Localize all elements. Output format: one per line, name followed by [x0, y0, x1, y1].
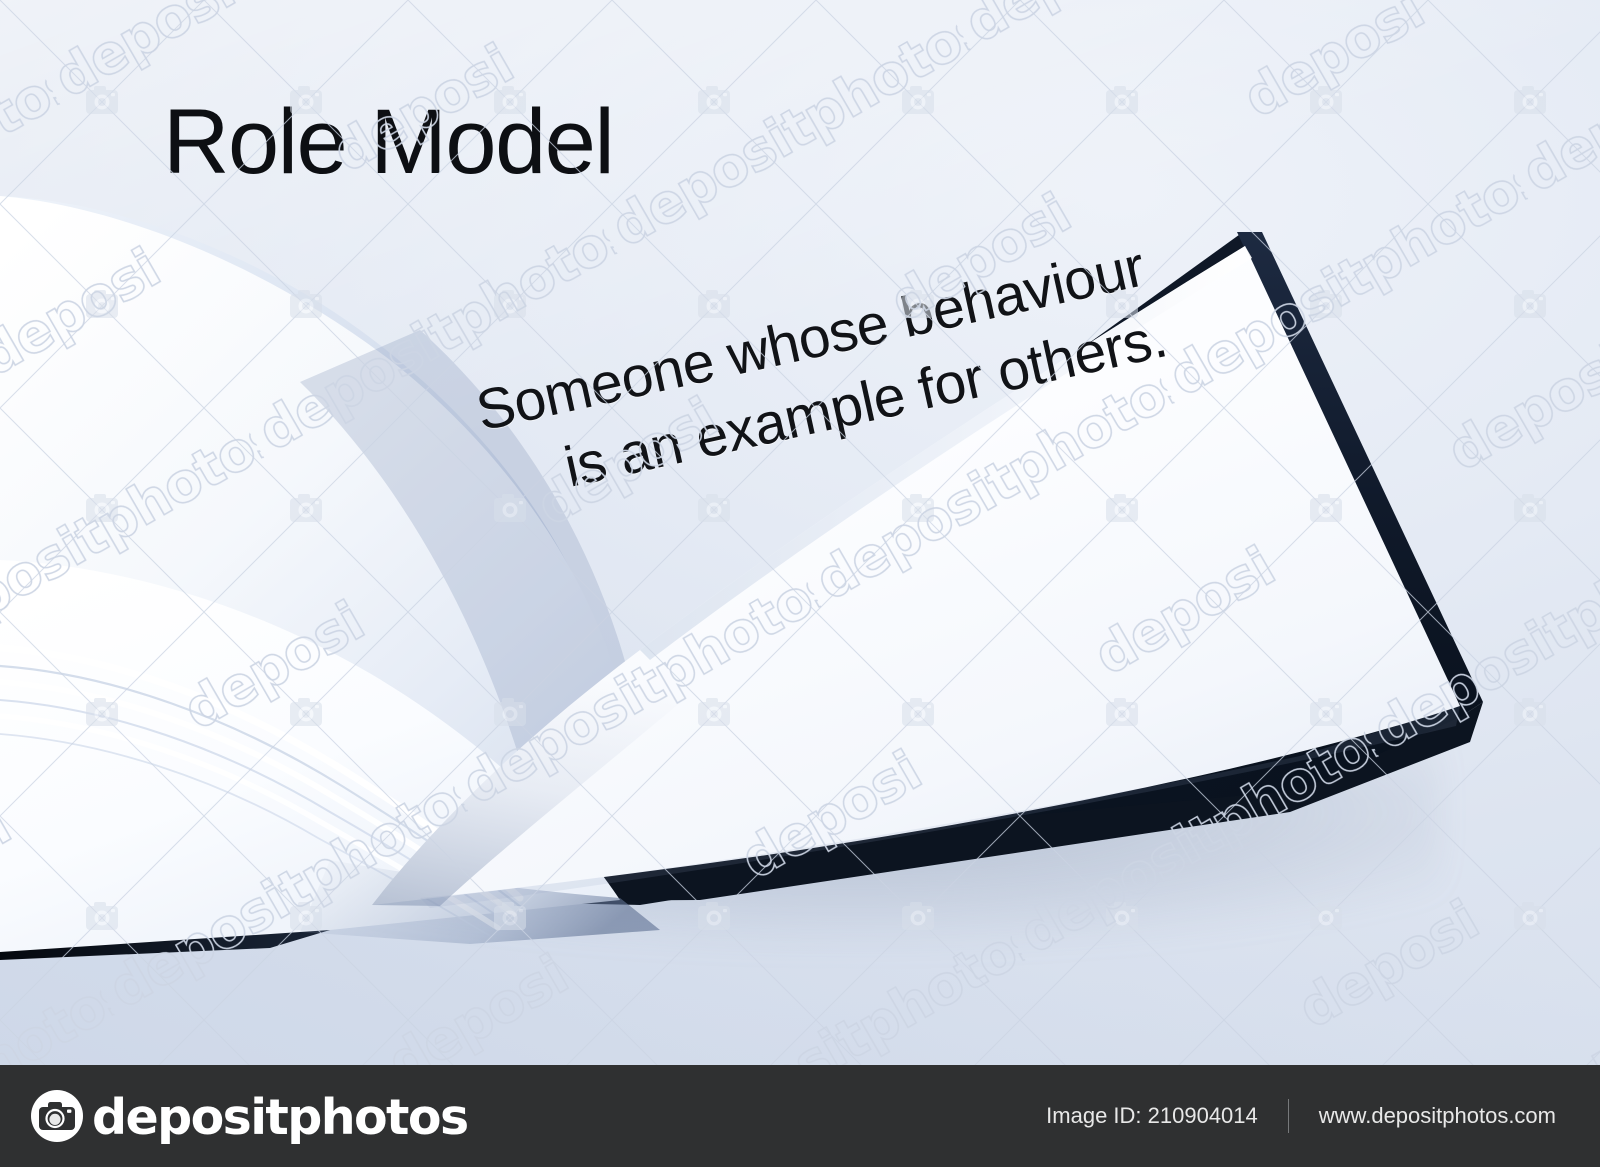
- screenshot-root: Someone whose behaviour is an example fo…: [0, 0, 1600, 1167]
- website-label[interactable]: www.depositphotos.com: [1319, 1103, 1556, 1129]
- camera-icon: [28, 1087, 86, 1145]
- brand-wordmark: depositphotos: [92, 1093, 468, 1142]
- footer-meta: Image ID: 210904014 www.depositphotos.co…: [1046, 1099, 1556, 1133]
- depositphotos-brand[interactable]: depositphotos: [28, 1087, 468, 1145]
- depositphotos-footer-bar: depositphotos Image ID: 210904014 www.de…: [0, 1065, 1600, 1167]
- footer-divider: [1288, 1099, 1289, 1133]
- headline-title: Role Model: [163, 96, 613, 188]
- stock-photo-image: Someone whose behaviour is an example fo…: [0, 0, 1600, 1065]
- image-id-label: Image ID: 210904014: [1046, 1103, 1258, 1129]
